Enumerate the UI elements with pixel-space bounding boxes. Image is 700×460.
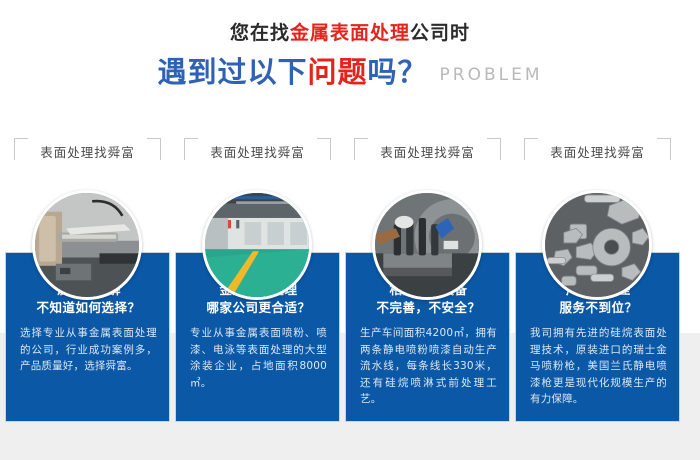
headline-highlight: 金属表面处理 bbox=[290, 22, 410, 44]
card-title-line-2: 哪家公司更合适？ bbox=[176, 299, 341, 317]
bolts-and-nuts-illustration bbox=[545, 193, 649, 297]
lathe-machining-illustration bbox=[35, 193, 139, 297]
card-body-text: 选择专业从事金属表面处理的公司，行业成功案例多，产品质量好，选择舜富。 bbox=[20, 325, 157, 375]
headline-english-label: PROBLEM bbox=[440, 65, 543, 85]
card-body-text: 生产车间面积4200㎡，拥有两条静电喷粉喷漆自动生产流水线，每条线长330米，还… bbox=[360, 325, 497, 408]
card-title-line-2: 不完善，不安全？ bbox=[346, 299, 511, 317]
card-label: 表面处理找舜富 bbox=[184, 138, 331, 168]
page-headline: 您在找金属表面处理公司时 遇到过以下问题吗？PROBLEM bbox=[0, 18, 700, 98]
card-title-line-2: 服务不到位？ bbox=[516, 299, 681, 317]
factory-workshop-illustration bbox=[205, 193, 309, 297]
problem-card[interactable]: 表面处理找舜富 设备不了解 不知道如何选择？ 选择专业从事金属表面处理的公司，行… bbox=[5, 138, 170, 438]
card-label-text: 表面处理找舜富 bbox=[354, 142, 501, 164]
card-label: 表面处理找舜富 bbox=[14, 138, 161, 168]
card-body-text: 我司拥有先进的硅烷表面处理技术，原装进口的瑞士金马喷粉枪，美国兰氏静电喷漆枪更是… bbox=[530, 325, 667, 408]
problem-card-grid: 表面处理找舜富 设备不了解 不知道如何选择？ 选择专业从事金属表面处理的公司，行… bbox=[0, 138, 700, 438]
card-label-text: 表面处理找舜富 bbox=[184, 142, 331, 164]
problem-card[interactable]: 表面处理找舜富 产品质量差 服务不到位？ 我司拥有先进的硅烷表面处理技术，原装进… bbox=[515, 138, 680, 438]
headline-suffix: 公司时 bbox=[410, 22, 470, 44]
headline-sub-part1: 遇到过以下 bbox=[157, 55, 307, 89]
headline-prefix: 您在找 bbox=[230, 22, 290, 44]
card-title-line-2: 不知道如何选择？ bbox=[6, 299, 171, 317]
card-label-text: 表面处理找舜富 bbox=[524, 142, 671, 164]
bolts-nuts-photo bbox=[542, 190, 652, 300]
headline-sub-part2: 吗？ bbox=[368, 55, 428, 89]
problem-card[interactable]: 表面处理找舜富 金属表面处理 哪家公司更合适？ 专业从事金属表面喷粉、喷漆、电泳… bbox=[175, 138, 340, 438]
headline-line-2: 遇到过以下问题吗？PROBLEM bbox=[0, 51, 700, 98]
headline-line-1: 您在找金属表面处理公司时 bbox=[0, 18, 700, 48]
metal-parts-illustration bbox=[375, 193, 479, 297]
card-body-text: 专业从事金属表面喷粉、喷漆、电泳等表面处理的大型涂装企业，占地面积8000㎡。 bbox=[190, 325, 327, 391]
lathe-machining-photo bbox=[32, 190, 142, 300]
card-label-text: 表面处理找舜富 bbox=[14, 142, 161, 164]
card-label: 表面处理找舜富 bbox=[354, 138, 501, 168]
metal-parts-fixture-photo bbox=[372, 190, 482, 300]
problem-card[interactable]: 表面处理找舜富 相关特种设备 不完善，不安全？ 生产车间面积4200㎡，拥有两条… bbox=[345, 138, 510, 438]
factory-workshop-photo bbox=[202, 190, 312, 300]
card-label: 表面处理找舜富 bbox=[524, 138, 671, 168]
headline-sub-highlight: 问题 bbox=[307, 55, 367, 89]
